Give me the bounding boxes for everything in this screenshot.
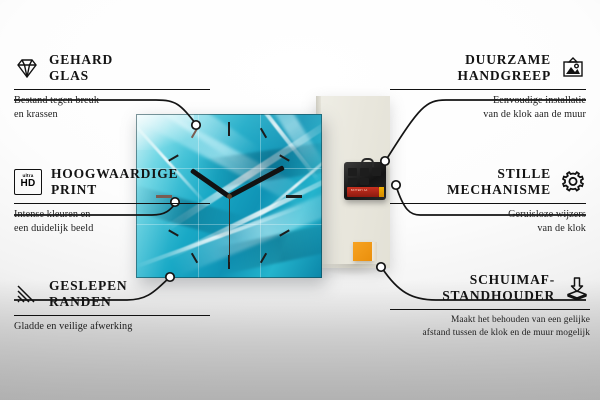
diagonal-lines-icon [14, 282, 40, 306]
foam-spacer-side [372, 242, 377, 261]
battery-label: BATTERY AA [351, 189, 367, 192]
clock-movement-mechanism: BATTERY AA [344, 162, 386, 200]
feature-title: HOOGWAARDIGEPRINT [51, 166, 178, 198]
feature-title: STILLEMECHANISME [447, 166, 551, 198]
ultra-hd-icon: ultra HD [14, 169, 42, 195]
feature-desc: Geruisloze wijzersvan de klok [390, 208, 586, 235]
feature-desc: Intense kleuren eneen duidelijk beeld [14, 208, 210, 235]
feature-desc: Eenvoudige installatievan de klok aan de… [390, 94, 586, 121]
movement-battery: BATTERY AA [347, 187, 379, 197]
feature-rule [390, 89, 586, 91]
feature-duurzame-handgreep: DUURZAMEHANDGREEP Eenvoudige installatie… [390, 52, 586, 121]
feature-title: GEHARDGLAS [49, 52, 113, 84]
feature-title: DUURZAMEHANDGREEP [458, 52, 551, 84]
press-pad-icon [564, 276, 590, 300]
foam-spacer [353, 242, 372, 261]
picture-frame-icon [560, 56, 586, 80]
diamond-icon [14, 56, 40, 80]
feature-desc: Maakt het behouden van een gelijkeafstan… [390, 314, 590, 339]
feature-rule [390, 309, 590, 311]
wall-backdrop-shadow [314, 264, 394, 280]
battery-terminal [379, 187, 384, 197]
feature-title: SCHUIMAF-STANDHOUDER [442, 272, 555, 304]
movement-hanger-icon [361, 158, 374, 167]
feature-desc: Bestand tegen breuken krassen [14, 94, 210, 121]
feature-rule [390, 203, 586, 205]
feature-rule [14, 89, 210, 91]
feature-desc: Gladde en veilige afwerking [14, 320, 210, 333]
feature-geslepen-randen: GESLEPENRANDEN Gladde en veilige afwerki… [14, 278, 210, 334]
feature-schuimafstandhouder: SCHUIMAF-STANDHOUDER Maakt het behouden … [390, 272, 590, 339]
feature-hoogwaardige-print: ultra HD HOOGWAARDIGEPRINT Intense kleur… [14, 166, 210, 235]
feature-rule [14, 203, 210, 205]
gear-icon [560, 170, 586, 194]
infographic-canvas: BATTERY AA [0, 0, 600, 400]
feature-stille-mechanisme: STILLEMECHANISME Geruisloze wijzersvan d… [390, 166, 586, 235]
feature-title: GESLEPENRANDEN [49, 278, 127, 310]
feature-gehard-glas: GEHARDGLAS Bestand tegen breuken krassen [14, 52, 210, 121]
feature-rule [14, 315, 210, 317]
